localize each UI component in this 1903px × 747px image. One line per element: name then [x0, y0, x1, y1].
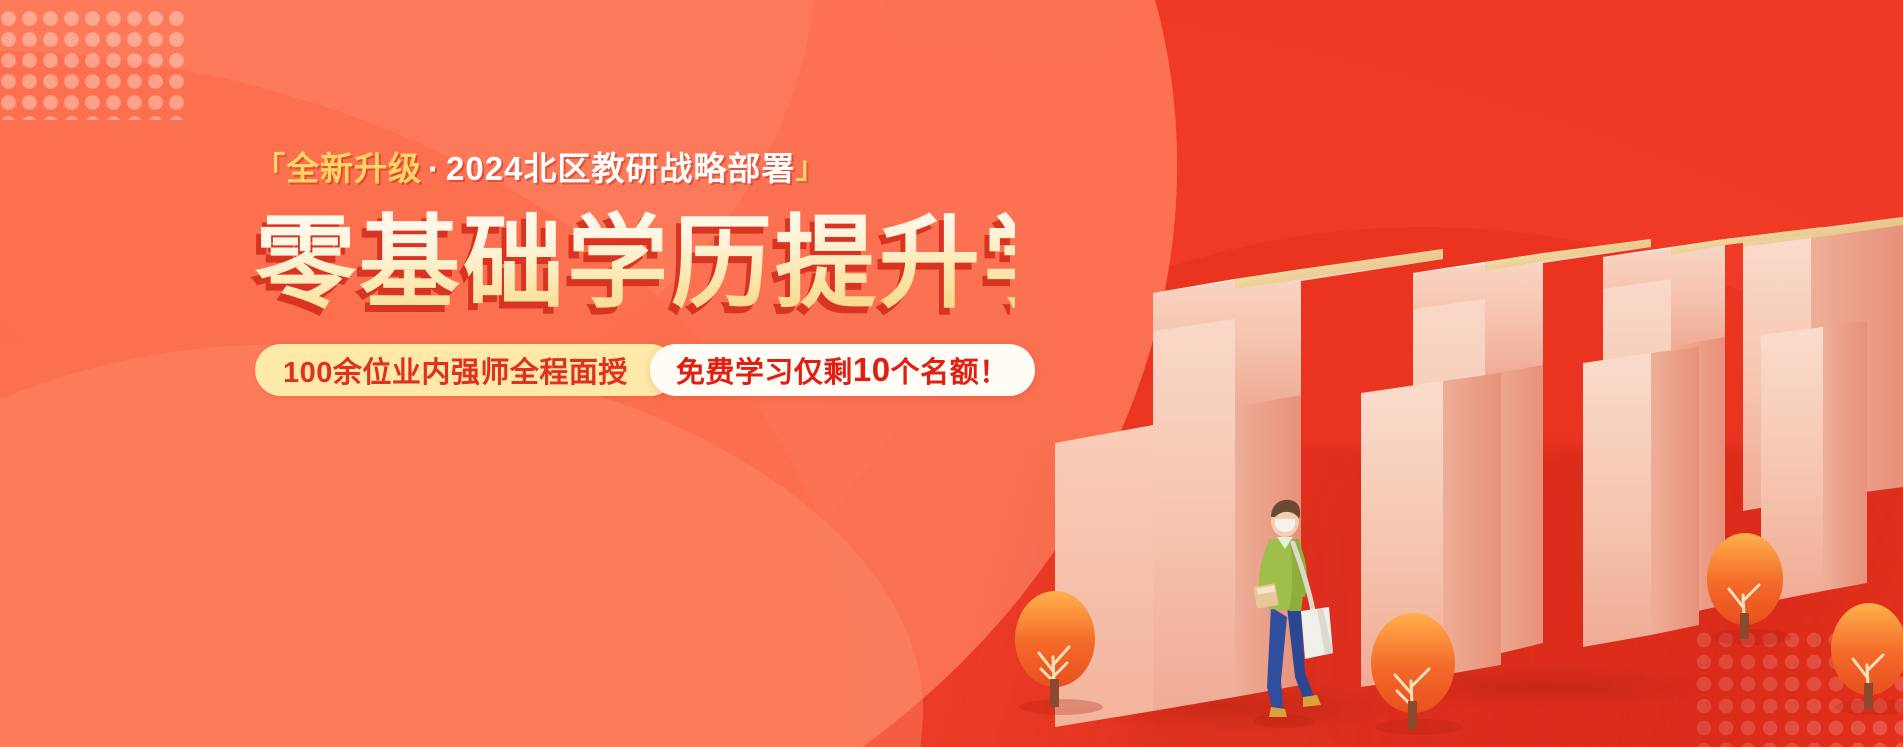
banner-pill-row: 100余位业内强师全程面授 免费学习仅剩10个名额！: [255, 344, 1015, 396]
subtitle-rest: 2024北区教研战略部署: [446, 150, 795, 187]
banner-subtitle: 「全新升级·2024北区教研战略部署」: [255, 145, 1015, 193]
banner-text-block: 「全新升级·2024北区教研战略部署」 零基础学历提升学霸班 100余位业内强师…: [255, 145, 1015, 396]
pill-quota-prefix: 免费学习仅剩: [676, 349, 853, 391]
subtitle-separator: ·: [422, 150, 446, 187]
pill-teachers-label: 100余位业内强师全程面授: [283, 349, 628, 391]
pill-quota: 免费学习仅剩10个名额！: [650, 344, 1035, 396]
promo-banner: 「全新升级·2024北区教研战略部署」 零基础学历提升学霸班 100余位业内强师…: [0, 0, 1903, 747]
banner-main-title: 零基础学历提升学霸班: [255, 207, 1015, 322]
pill-teachers: 100余位业内强师全程面授: [255, 344, 676, 396]
bracket-close: 」: [795, 152, 826, 185]
bracket-open: 「: [255, 152, 286, 185]
pill-quota-number: 10: [853, 351, 891, 389]
subtitle-highlight: 全新升级: [286, 150, 422, 187]
pill-quota-suffix: 个名额！: [891, 349, 1009, 391]
